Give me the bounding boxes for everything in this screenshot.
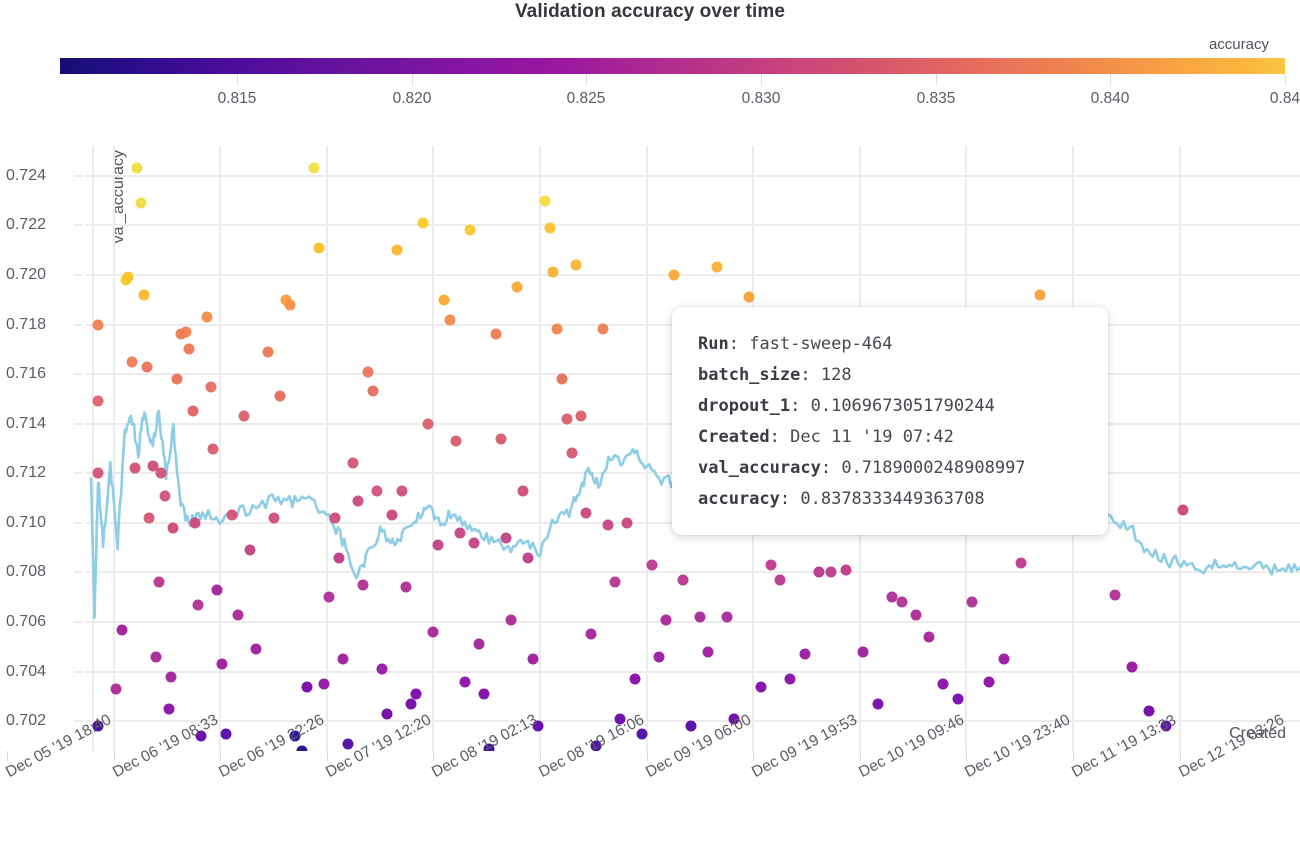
y-tick-mark: [74, 274, 83, 275]
tooltip-key: val_accuracy: [698, 458, 821, 478]
scatter-point[interactable]: [362, 366, 373, 377]
colorbar-tick-mark: [586, 74, 587, 85]
gridline-vertical: [539, 146, 541, 751]
scatter-point[interactable]: [338, 654, 349, 665]
scatter-point[interactable]: [539, 195, 550, 206]
colorbar-tick-mark: [936, 74, 937, 85]
scatter-point[interactable]: [250, 644, 261, 655]
scatter-point[interactable]: [151, 651, 162, 662]
scatter-point[interactable]: [826, 567, 837, 578]
scatter-point[interactable]: [712, 262, 723, 273]
scatter-point[interactable]: [702, 646, 713, 657]
scatter-point[interactable]: [411, 688, 422, 699]
scatter-point[interactable]: [548, 267, 559, 278]
scatter-point[interactable]: [755, 681, 766, 692]
scatter-point[interactable]: [93, 396, 104, 407]
scatter-point[interactable]: [314, 242, 325, 253]
scatter-point[interactable]: [896, 597, 907, 608]
colorbar-tick-label: 0.840: [1091, 90, 1130, 108]
scatter-point[interactable]: [501, 532, 512, 543]
scatter-point[interactable]: [192, 599, 203, 610]
scatter-point[interactable]: [685, 721, 696, 732]
tooltip-key: Created: [698, 427, 770, 447]
y-tick-label: 0.722: [6, 216, 46, 234]
scatter-point[interactable]: [464, 225, 475, 236]
x-tick-mark: [753, 751, 754, 761]
tooltip-key: Run: [698, 334, 729, 354]
scatter-point[interactable]: [695, 612, 706, 623]
colorbar-tick-label: 0.820: [393, 90, 432, 108]
colorbar-legend[interactable]: accuracy 0.8150.8200.8250.8300.8350.8400…: [60, 58, 1285, 74]
y-tick-mark: [74, 622, 83, 623]
tooltip-key: batch_size: [698, 365, 800, 385]
scatter-point[interactable]: [586, 629, 597, 640]
colorbar-tick-mark: [761, 74, 762, 85]
scatter-point[interactable]: [401, 582, 412, 593]
scatter-point[interactable]: [775, 574, 786, 585]
scatter-point[interactable]: [301, 681, 312, 692]
scatter-point[interactable]: [263, 346, 274, 357]
scatter-point[interactable]: [318, 679, 329, 690]
colorbar-gradient: [60, 58, 1285, 74]
scatter-point[interactable]: [561, 413, 572, 424]
tooltip-separator: :: [770, 427, 790, 447]
scatter-point[interactable]: [1015, 557, 1026, 568]
scatter-point[interactable]: [556, 374, 567, 385]
y-tick-mark: [74, 522, 83, 523]
scatter-point[interactable]: [156, 468, 167, 479]
gridline-vertical: [1179, 146, 1181, 751]
scatter-point[interactable]: [654, 651, 665, 662]
gridline-vertical: [113, 146, 115, 751]
scatter-point[interactable]: [857, 646, 868, 657]
scatter-point[interactable]: [984, 676, 995, 687]
tooltip-key: dropout_1: [698, 396, 790, 416]
scatter-point[interactable]: [479, 688, 490, 699]
scatter-point[interactable]: [382, 708, 393, 719]
y-tick-label: 0.708: [6, 563, 46, 581]
scatter-point[interactable]: [923, 631, 934, 642]
chart-page: Validation accuracy over time accuracy 0…: [0, 0, 1300, 864]
x-tick-mark: [540, 751, 541, 761]
scatter-point[interactable]: [1127, 661, 1138, 672]
tooltip-separator: :: [800, 365, 820, 385]
colorbar-tick-mark: [1110, 74, 1111, 85]
tooltip-row: Created: Dec 11 '19 07:42: [698, 422, 1082, 453]
scatter-point[interactable]: [598, 324, 609, 335]
colorbar-tick-label: 0.815: [218, 90, 257, 108]
scatter-point[interactable]: [117, 624, 128, 635]
tooltip-rows: Run: fast-sweep-464batch_size: 128dropou…: [698, 329, 1082, 515]
scatter-point[interactable]: [226, 510, 237, 521]
scatter-point[interactable]: [357, 579, 368, 590]
y-tick-label: 0.702: [6, 712, 46, 730]
scatter-point[interactable]: [309, 163, 320, 174]
gridline-horizontal: [86, 274, 1300, 276]
scatter-point[interactable]: [269, 512, 280, 523]
scatter-point[interactable]: [190, 517, 201, 528]
tooltip-row: dropout_1: 0.1069673051790244: [698, 391, 1082, 422]
y-tick-mark: [74, 225, 83, 226]
scatter-point[interactable]: [159, 490, 170, 501]
scatter-point[interactable]: [352, 495, 363, 506]
scatter-point[interactable]: [423, 418, 434, 429]
scatter-point[interactable]: [93, 468, 104, 479]
scatter-point[interactable]: [406, 698, 417, 709]
scatter-point[interactable]: [238, 411, 249, 422]
scatter-point[interactable]: [333, 552, 344, 563]
y-tick-label: 0.724: [6, 167, 46, 185]
tooltip-value: 0.7189000248908997: [841, 458, 1025, 478]
scatter-point[interactable]: [522, 552, 533, 563]
x-tick-mark: [966, 751, 967, 761]
scatter-point[interactable]: [799, 649, 810, 660]
tooltip-value: Dec 11 '19 07:42: [790, 427, 954, 447]
tooltip-value: fast-sweep-464: [749, 334, 892, 354]
scatter-point[interactable]: [180, 326, 191, 337]
scatter-point[interactable]: [386, 510, 397, 521]
scatter-point[interactable]: [168, 522, 179, 533]
scatter-point[interactable]: [511, 282, 522, 293]
page-title: Validation accuracy over time: [0, 1, 1300, 23]
y-tick-mark: [74, 721, 83, 722]
tooltip-key: accuracy: [698, 489, 780, 509]
scatter-point[interactable]: [952, 693, 963, 704]
scatter-point[interactable]: [668, 269, 679, 280]
scatter-point[interactable]: [297, 746, 308, 752]
y-tick-label: 0.712: [6, 464, 46, 482]
scatter-point[interactable]: [445, 314, 456, 325]
scatter-point[interactable]: [552, 324, 563, 335]
tooltip-separator: :: [790, 396, 810, 416]
y-tick-mark: [74, 473, 83, 474]
scatter-point[interactable]: [743, 292, 754, 303]
scatter-point[interactable]: [1144, 706, 1155, 717]
tooltip-row: batch_size: 128: [698, 360, 1082, 391]
scatter-point[interactable]: [202, 312, 213, 323]
tooltip-value: 128: [821, 365, 852, 385]
y-tick-label: 0.714: [6, 415, 46, 433]
colorbar-tick-label: 0.830: [742, 90, 781, 108]
scatter-point[interactable]: [367, 386, 378, 397]
x-axis-title: Created: [1229, 725, 1286, 743]
scatter-point[interactable]: [1035, 289, 1046, 300]
scatter-point[interactable]: [459, 676, 470, 687]
scatter-point[interactable]: [391, 245, 402, 256]
y-tick-mark: [74, 175, 83, 176]
scatter-point[interactable]: [131, 163, 142, 174]
tooltip-separator: :: [821, 458, 841, 478]
scatter-point[interactable]: [275, 391, 286, 402]
scatter-point[interactable]: [785, 674, 796, 685]
y-tick-label: 0.706: [6, 613, 46, 631]
scatter-point[interactable]: [165, 671, 176, 682]
scatter-point[interactable]: [348, 458, 359, 469]
scatter-point[interactable]: [206, 381, 217, 392]
y-tick-mark: [74, 374, 83, 375]
y-tick-label: 0.710: [6, 514, 46, 532]
scatter-point[interactable]: [622, 517, 633, 528]
scatter-point[interactable]: [153, 577, 164, 588]
scatter-point[interactable]: [329, 512, 340, 523]
y-tick-label: 0.716: [6, 365, 46, 383]
scatter-point[interactable]: [469, 537, 480, 548]
x-tick-mark: [327, 751, 328, 761]
gridline-vertical: [646, 146, 648, 751]
scatter-point[interactable]: [576, 411, 587, 422]
tooltip-separator: :: [729, 334, 749, 354]
x-tick-mark: [220, 751, 221, 761]
scatter-point[interactable]: [765, 560, 776, 571]
scatter-point[interactable]: [571, 260, 582, 271]
scatter-point[interactable]: [518, 485, 529, 496]
scatter-point[interactable]: [216, 659, 227, 670]
scatter-point[interactable]: [123, 272, 134, 283]
scatter-point[interactable]: [603, 520, 614, 531]
y-tick-mark: [74, 671, 83, 672]
x-tick-mark: [433, 751, 434, 761]
scatter-point[interactable]: [129, 463, 140, 474]
scatter-point[interactable]: [343, 738, 354, 749]
x-tick-mark: [114, 751, 115, 761]
scatter-point[interactable]: [646, 560, 657, 571]
scatter-point[interactable]: [998, 654, 1009, 665]
tooltip-separator: :: [780, 489, 800, 509]
scatter-point[interactable]: [244, 545, 255, 556]
scatter-point[interactable]: [678, 574, 689, 585]
scatter-point[interactable]: [1178, 505, 1189, 516]
scatter-point[interactable]: [144, 512, 155, 523]
y-tick-label: 0.704: [6, 663, 46, 681]
scatter-point[interactable]: [184, 344, 195, 355]
scatter-point[interactable]: [172, 374, 183, 385]
scatter-point[interactable]: [566, 448, 577, 459]
scatter-point[interactable]: [629, 674, 640, 685]
scatter-point[interactable]: [439, 294, 450, 305]
y-tick-mark: [74, 572, 83, 573]
scatter-point[interactable]: [141, 361, 152, 372]
y-tick-mark: [74, 423, 83, 424]
scatter-point[interactable]: [163, 703, 174, 714]
scatter-point[interactable]: [323, 592, 334, 603]
gridline-horizontal: [86, 671, 1300, 673]
tooltip-row: val_accuracy: 0.7189000248908997: [698, 453, 1082, 484]
y-tick-mark: [74, 324, 83, 325]
scatter-point[interactable]: [721, 612, 732, 623]
scatter-point[interactable]: [187, 406, 198, 417]
colorbar-tick-mark: [1285, 74, 1286, 85]
colorbar-tick-label: 0.84: [1270, 90, 1300, 108]
gridline-vertical: [92, 146, 94, 751]
colorbar-label: accuracy: [1209, 36, 1269, 53]
gridline-horizontal: [86, 571, 1300, 573]
scatter-point[interactable]: [127, 356, 138, 367]
tooltip-row: Run: fast-sweep-464: [698, 329, 1082, 360]
scatter-point[interactable]: [491, 329, 502, 340]
scatter-point[interactable]: [454, 527, 465, 538]
scatter-point[interactable]: [451, 436, 462, 447]
x-tick-mark: [1180, 751, 1181, 761]
gridline-vertical: [326, 146, 328, 751]
scatter-point[interactable]: [284, 299, 295, 310]
scatter-point[interactable]: [527, 654, 538, 665]
colorbar-tick-label: 0.835: [917, 90, 956, 108]
scatter-point[interactable]: [911, 609, 922, 620]
scatter-point[interactable]: [872, 698, 883, 709]
tooltip-value: 0.1069673051790244: [811, 396, 995, 416]
scatter-point[interactable]: [93, 319, 104, 330]
scatter-point[interactable]: [220, 728, 231, 739]
scatter-point[interactable]: [938, 679, 949, 690]
scatter-point[interactable]: [396, 485, 407, 496]
scatter-point[interactable]: [212, 584, 223, 595]
gridline-vertical: [432, 146, 434, 751]
gridline-horizontal: [86, 224, 1300, 226]
scatter-point[interactable]: [428, 626, 439, 637]
scatter-point[interactable]: [505, 614, 516, 625]
scatter-point[interactable]: [814, 567, 825, 578]
gridline-horizontal: [86, 175, 1300, 177]
scatter-point[interactable]: [661, 614, 672, 625]
colorbar-tick-label: 0.825: [567, 90, 606, 108]
y-tick-label: 0.720: [6, 266, 46, 284]
scatter-point[interactable]: [474, 639, 485, 650]
scatter-point[interactable]: [433, 540, 444, 551]
x-tick-mark: [647, 751, 648, 761]
scatter-point[interactable]: [135, 198, 146, 209]
x-tick-mark: [7, 751, 8, 761]
scatter-point[interactable]: [610, 577, 621, 588]
scatter-point[interactable]: [372, 485, 383, 496]
scatter-point[interactable]: [208, 443, 219, 454]
y-tick-label: 0.718: [6, 316, 46, 334]
colorbar-tick-mark: [412, 74, 413, 85]
scatter-point[interactable]: [581, 507, 592, 518]
scatter-point[interactable]: [840, 564, 851, 575]
scatter-point[interactable]: [1110, 589, 1121, 600]
scatter-point[interactable]: [111, 684, 122, 695]
scatter-point[interactable]: [377, 664, 388, 675]
x-tick-mark: [1073, 751, 1074, 761]
tooltip-value: 0.8378333449363708: [800, 489, 984, 509]
tooltip-row: accuracy: 0.8378333449363708: [698, 484, 1082, 515]
scatter-point[interactable]: [418, 217, 429, 228]
scatter-point[interactable]: [967, 597, 978, 608]
scatter-point[interactable]: [232, 609, 243, 620]
scatter-point[interactable]: [496, 433, 507, 444]
scatter-point[interactable]: [139, 289, 150, 300]
run-tooltip: Run: fast-sweep-464batch_size: 128dropou…: [672, 307, 1108, 535]
gridline-horizontal: [86, 621, 1300, 623]
x-tick-mark: [860, 751, 861, 761]
colorbar-tick-mark: [237, 74, 238, 85]
scatter-point[interactable]: [544, 222, 555, 233]
